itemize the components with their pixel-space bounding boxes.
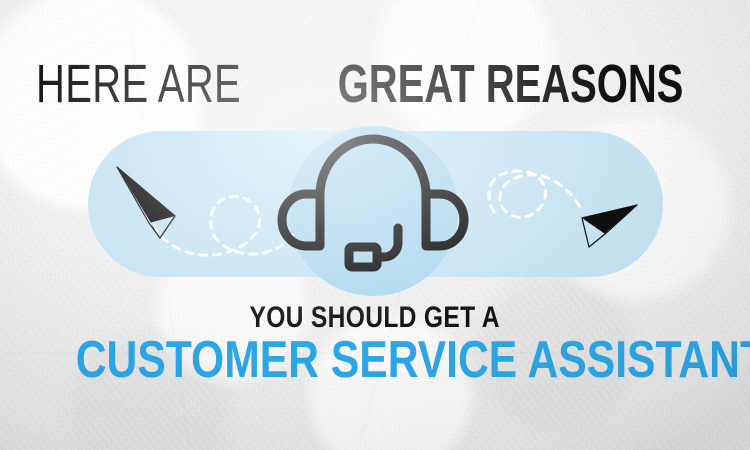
- main-title: CUSTOMER SERVICE ASSISTANT: [0, 334, 750, 386]
- main-title-text: CUSTOMER SERVICE ASSISTANT: [76, 334, 750, 386]
- headline-part-2: GREAT REASONS: [338, 57, 684, 111]
- blue-circle-highlight: [288, 126, 458, 296]
- poster-canvas: HERE AREGREAT REASONSWHY: [0, 0, 750, 450]
- headline-part-1: HERE ARE: [36, 57, 241, 111]
- subline: YOU SHOULD GET A: [0, 303, 750, 333]
- subline-text: YOU SHOULD GET A: [250, 303, 500, 333]
- headline: HERE AREGREAT REASONSWHY: [0, 57, 750, 111]
